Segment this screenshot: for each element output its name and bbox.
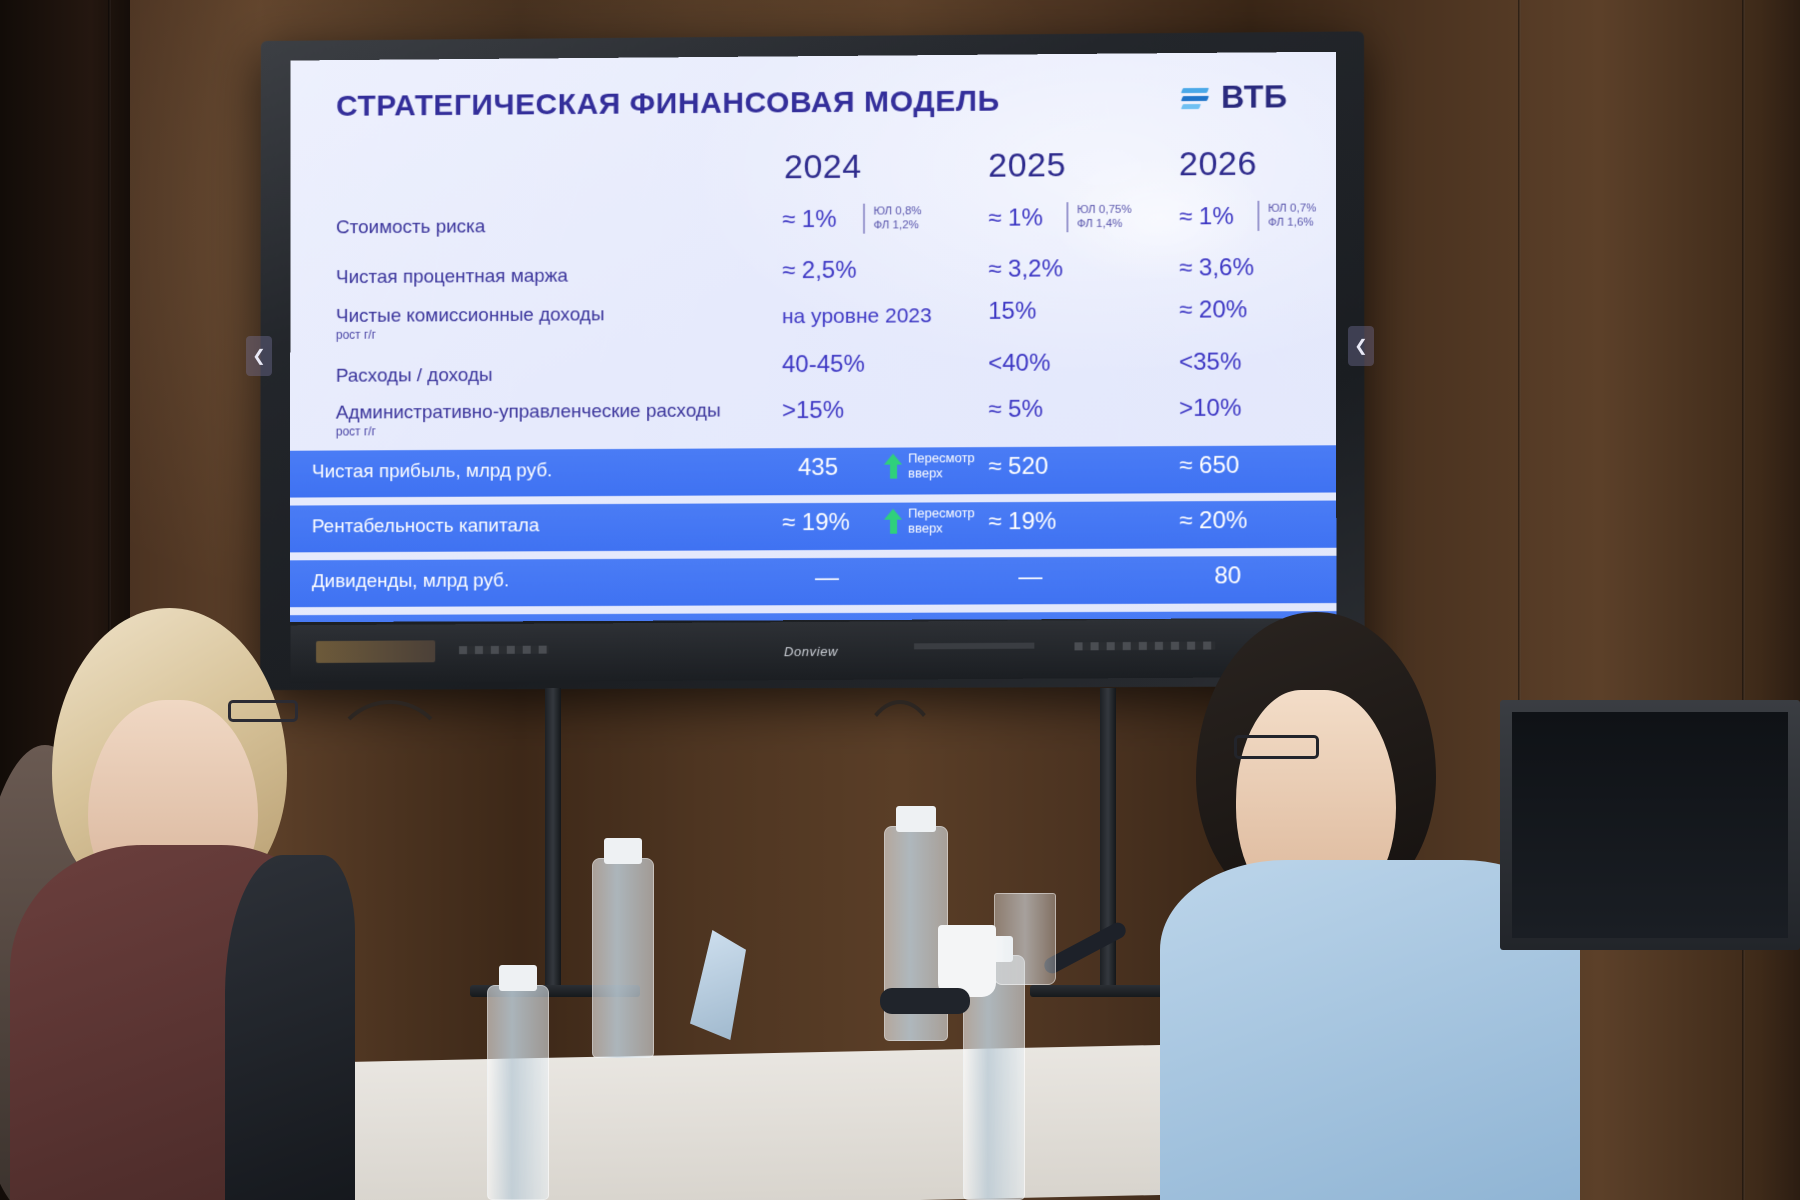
row-value-2024: ≈ 1% bbox=[782, 206, 837, 234]
revision-line-2: вверх bbox=[908, 465, 975, 480]
row-value-2026: ≈ 20% bbox=[1179, 507, 1247, 535]
display-screen[interactable]: СТРАТЕГИЧЕСКАЯ ФИНАНСОВАЯ МОДЕЛЬ ВТБ 202… bbox=[290, 52, 1336, 622]
display-cable bbox=[330, 700, 450, 830]
eyeglasses-right bbox=[1234, 735, 1319, 759]
row-note-2026: ЮЛ 0,7% ФЛ 1,6% bbox=[1257, 200, 1316, 231]
row-value-2024: 435 bbox=[798, 454, 838, 482]
note-line-1: ЮЛ 0,75% bbox=[1077, 203, 1132, 217]
display-port-block bbox=[316, 640, 435, 663]
row-label: Чистая процентная маржа bbox=[336, 266, 568, 289]
row-value-2024: ≈ 2,5% bbox=[782, 257, 857, 285]
bottle-cap-1 bbox=[604, 838, 642, 864]
eyeglasses-on-table bbox=[880, 988, 970, 1014]
column-header-2025: 2025 bbox=[988, 146, 1066, 186]
row-value-2025: ≈ 520 bbox=[988, 453, 1048, 481]
column-header-2026: 2026 bbox=[1179, 145, 1257, 185]
vtb-logo-text: ВТБ bbox=[1221, 78, 1287, 116]
chevron-right-icon: ❮ bbox=[1354, 336, 1367, 356]
revision-text: Пересмотр вверх bbox=[908, 505, 975, 535]
table-row-highlighted: Дивиденды, млрд руб. — — 80 bbox=[290, 556, 1336, 607]
row-value-2025: ≈ 3,2% bbox=[988, 255, 1063, 284]
row-value-2024: на уровне 2023 bbox=[782, 304, 932, 329]
water-bottle-3 bbox=[487, 985, 549, 1200]
person-left-jacket bbox=[225, 855, 355, 1200]
row-value-2025: ≈ 19% bbox=[988, 508, 1056, 536]
revision-badge: Пересмотр вверх bbox=[884, 450, 975, 481]
row-label: Рентабельность капитала bbox=[312, 515, 540, 538]
note-divider bbox=[1066, 202, 1068, 232]
page-title: СТРАТЕГИЧЕСКАЯ ФИНАНСОВАЯ МОДЕЛЬ bbox=[336, 85, 1000, 124]
note-line-1: ЮЛ 0,8% bbox=[874, 204, 922, 218]
table-row-highlighted: Рентабельность капитала ≈ 19% Пересмотр … bbox=[290, 501, 1336, 553]
drinking-glass bbox=[994, 893, 1056, 985]
note-line-2: ФЛ 1,6% bbox=[1268, 215, 1316, 229]
chevron-left-icon: ❮ bbox=[252, 346, 265, 366]
vtb-logo: ВТБ bbox=[1182, 78, 1288, 116]
display-stand-leg-left bbox=[545, 688, 561, 988]
row-value-2026: ≈ 20% bbox=[1179, 296, 1247, 325]
row-label: Чистая прибыль, млрд руб. bbox=[312, 460, 552, 483]
note-line-2: ФЛ 1,2% bbox=[874, 218, 922, 232]
table-row: Расходы / доходы 40-45% <40% <35% bbox=[290, 346, 1336, 397]
table-row-highlighted: Чистая прибыль, млрд руб. 435 Пересмотр … bbox=[290, 445, 1336, 497]
presentation-slide: СТРАТЕГИЧЕСКАЯ ФИНАНСОВАЯ МОДЕЛЬ ВТБ 202… bbox=[290, 52, 1336, 622]
column-header-2024: 2024 bbox=[784, 148, 862, 188]
revision-line-1: Пересмотр bbox=[908, 505, 975, 520]
table-row: Административно-управленческие расходы р… bbox=[290, 391, 1336, 447]
display-vent-right bbox=[1075, 642, 1216, 651]
water-bottle-1 bbox=[592, 858, 654, 1058]
row-sublabel: рост г/г bbox=[336, 328, 376, 342]
row-value-2024: ≈ 19% bbox=[782, 509, 850, 537]
row-value-2025: <40% bbox=[988, 350, 1050, 378]
row-sublabel: рост г/г bbox=[336, 424, 376, 438]
row-label: Чистые комиссионные доходы bbox=[336, 304, 605, 328]
eyeglasses-left bbox=[228, 700, 298, 722]
display-vent-mid bbox=[914, 643, 1034, 650]
note-line-1: ЮЛ 0,7% bbox=[1268, 201, 1316, 215]
row-note-2025: ЮЛ 0,75% ФЛ 1,4% bbox=[1066, 202, 1131, 233]
row-label: Административно-управленческие расходы bbox=[336, 401, 721, 425]
row-label: Стоимость риска bbox=[336, 216, 485, 239]
row-value-2026: <35% bbox=[1179, 348, 1241, 376]
note-divider bbox=[1257, 201, 1259, 231]
row-value-2025: ≈ 5% bbox=[988, 396, 1043, 424]
row-value-2024: — bbox=[815, 564, 839, 592]
note-lines: ЮЛ 0,8% ФЛ 1,2% bbox=[874, 204, 922, 232]
note-line-2: ФЛ 1,4% bbox=[1077, 217, 1132, 231]
revision-badge: Пересмотр вверх bbox=[884, 505, 975, 535]
arrow-up-icon bbox=[884, 453, 903, 478]
row-value-2025: — bbox=[1018, 563, 1042, 591]
bottle-cap-3 bbox=[499, 965, 537, 991]
row-value-2026: 80 bbox=[1214, 562, 1241, 590]
row-value-2024: >15% bbox=[782, 397, 844, 425]
display-vent-left bbox=[459, 646, 549, 655]
table-row: Стоимость риска ≈ 1% ≈ 1% ≈ 1% ЮЛ 0,8% Ф… bbox=[290, 192, 1336, 255]
revision-line-1: Пересмотр bbox=[908, 450, 975, 465]
note-lines: ЮЛ 0,7% ФЛ 1,6% bbox=[1268, 201, 1316, 229]
row-value-2024: 40-45% bbox=[782, 351, 865, 379]
revision-text: Пересмотр вверх bbox=[908, 450, 975, 480]
table-row: Чистые комиссионные доходы рост г/г на у… bbox=[290, 294, 1336, 353]
row-value-2025: 15% bbox=[988, 298, 1036, 326]
meeting-room-scene: СТРАТЕГИЧЕСКАЯ ФИНАНСОВАЯ МОДЕЛЬ ВТБ 202… bbox=[0, 0, 1800, 1200]
row-label: Дивиденды, млрд руб. bbox=[312, 570, 509, 593]
arrow-up-icon bbox=[884, 508, 903, 533]
bottle-cap-2 bbox=[896, 806, 936, 832]
row-value-2026: >10% bbox=[1179, 395, 1241, 423]
note-divider bbox=[863, 204, 865, 234]
revision-line-2: вверх bbox=[908, 520, 975, 535]
note-lines: ЮЛ 0,75% ФЛ 1,4% bbox=[1077, 203, 1132, 231]
table-row: Чистая процентная маржа ≈ 2,5% ≈ 3,2% ≈ … bbox=[290, 248, 1336, 300]
display-chin-bar: Donview bbox=[290, 619, 1336, 683]
coffee-cup bbox=[938, 925, 996, 997]
interactive-display-panel[interactable]: СТРАТЕГИЧЕСКАЯ ФИНАНСОВАЯ МОДЕЛЬ ВТБ 202… bbox=[258, 36, 1362, 688]
row-value-2026: ≈ 1% bbox=[1179, 203, 1234, 231]
nav-previous-button[interactable]: ❮ bbox=[246, 336, 272, 376]
metrics-table: Стоимость риска ≈ 1% ≈ 1% ≈ 1% ЮЛ 0,8% Ф… bbox=[290, 192, 1336, 622]
row-value-2025: ≈ 1% bbox=[988, 204, 1043, 232]
row-note-2024: ЮЛ 0,8% ФЛ 1,2% bbox=[863, 203, 922, 233]
row-value-2026: ≈ 650 bbox=[1179, 452, 1239, 480]
laptop-screen bbox=[1512, 712, 1788, 938]
row-value-2026: ≈ 3,6% bbox=[1179, 254, 1254, 283]
row-label: Расходы / доходы bbox=[336, 365, 493, 388]
wall-seam bbox=[1742, 0, 1745, 1200]
vtb-bars-icon bbox=[1182, 84, 1212, 110]
nav-next-button[interactable]: ❮ bbox=[1348, 326, 1374, 366]
display-brand-label: Donview bbox=[784, 644, 838, 659]
